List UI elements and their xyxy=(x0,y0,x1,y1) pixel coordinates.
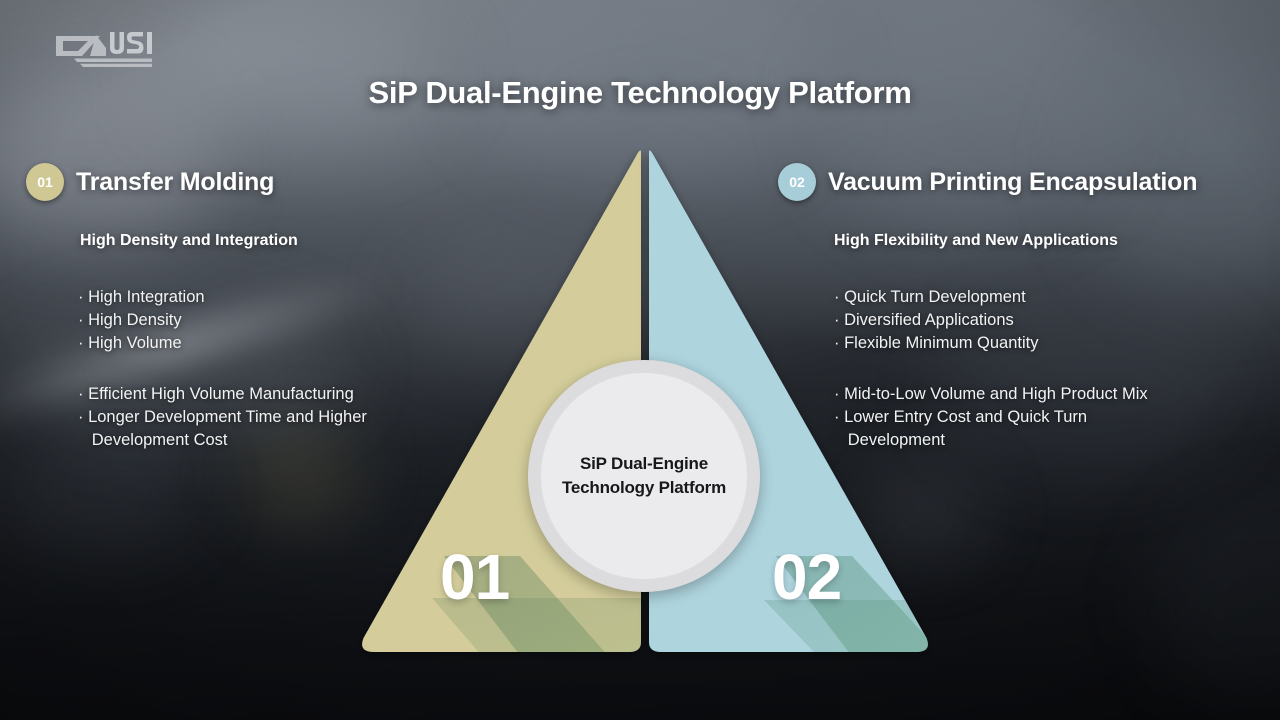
list-item: · Longer Development Time and Higher Dev… xyxy=(78,406,456,452)
list-item: · Quick Turn Development xyxy=(834,286,1260,309)
badge-01: 01 xyxy=(26,163,64,201)
list-item: · Flexible Minimum Quantity xyxy=(834,332,1260,355)
column-left-subtitle: High Density and Integration xyxy=(80,232,456,250)
list-item: · High Integration xyxy=(78,286,456,309)
column-right-title: Vacuum Printing Encapsulation xyxy=(828,168,1197,197)
badge-02: 02 xyxy=(778,163,816,201)
column-transfer-molding: 01 Transfer Molding High Density and Int… xyxy=(26,160,456,452)
column-left-header: 01 Transfer Molding xyxy=(26,160,456,204)
list-item: · Lower Entry Cost and Quick Turn Develo… xyxy=(834,406,1260,452)
center-circle: SiP Dual-Engine Technology Platform xyxy=(528,360,760,592)
list-item: · High Volume xyxy=(78,332,456,355)
list-item: · Efficient High Volume Manufacturing xyxy=(78,383,456,406)
center-label: SiP Dual-Engine Technology Platform xyxy=(562,452,726,500)
list-item: · High Density xyxy=(78,309,456,332)
column-left-title: Transfer Molding xyxy=(76,168,274,197)
list-item: · Mid-to-Low Volume and High Product Mix xyxy=(834,383,1260,406)
column-vacuum-printing-encapsulation: 02 Vacuum Printing Encapsulation High Fl… xyxy=(778,160,1260,452)
column-right-bullets-group-2: · Mid-to-Low Volume and High Product Mix… xyxy=(834,383,1260,452)
list-item: · Diversified Applications xyxy=(834,309,1260,332)
center-circle-inner: SiP Dual-Engine Technology Platform xyxy=(541,373,747,579)
triangle-number-02: 02 xyxy=(772,540,841,614)
column-left-bullets-group-1: · High Integration · High Density · High… xyxy=(78,286,456,355)
triangle-number-01: 01 xyxy=(440,540,509,614)
column-left-bullets-group-2: · Efficient High Volume Manufacturing · … xyxy=(78,383,456,452)
column-right-bullets-group-1: · Quick Turn Development · Diversified A… xyxy=(834,286,1260,355)
column-right-header: 02 Vacuum Printing Encapsulation xyxy=(778,160,1260,204)
column-right-subtitle: High Flexibility and New Applications xyxy=(834,232,1260,250)
